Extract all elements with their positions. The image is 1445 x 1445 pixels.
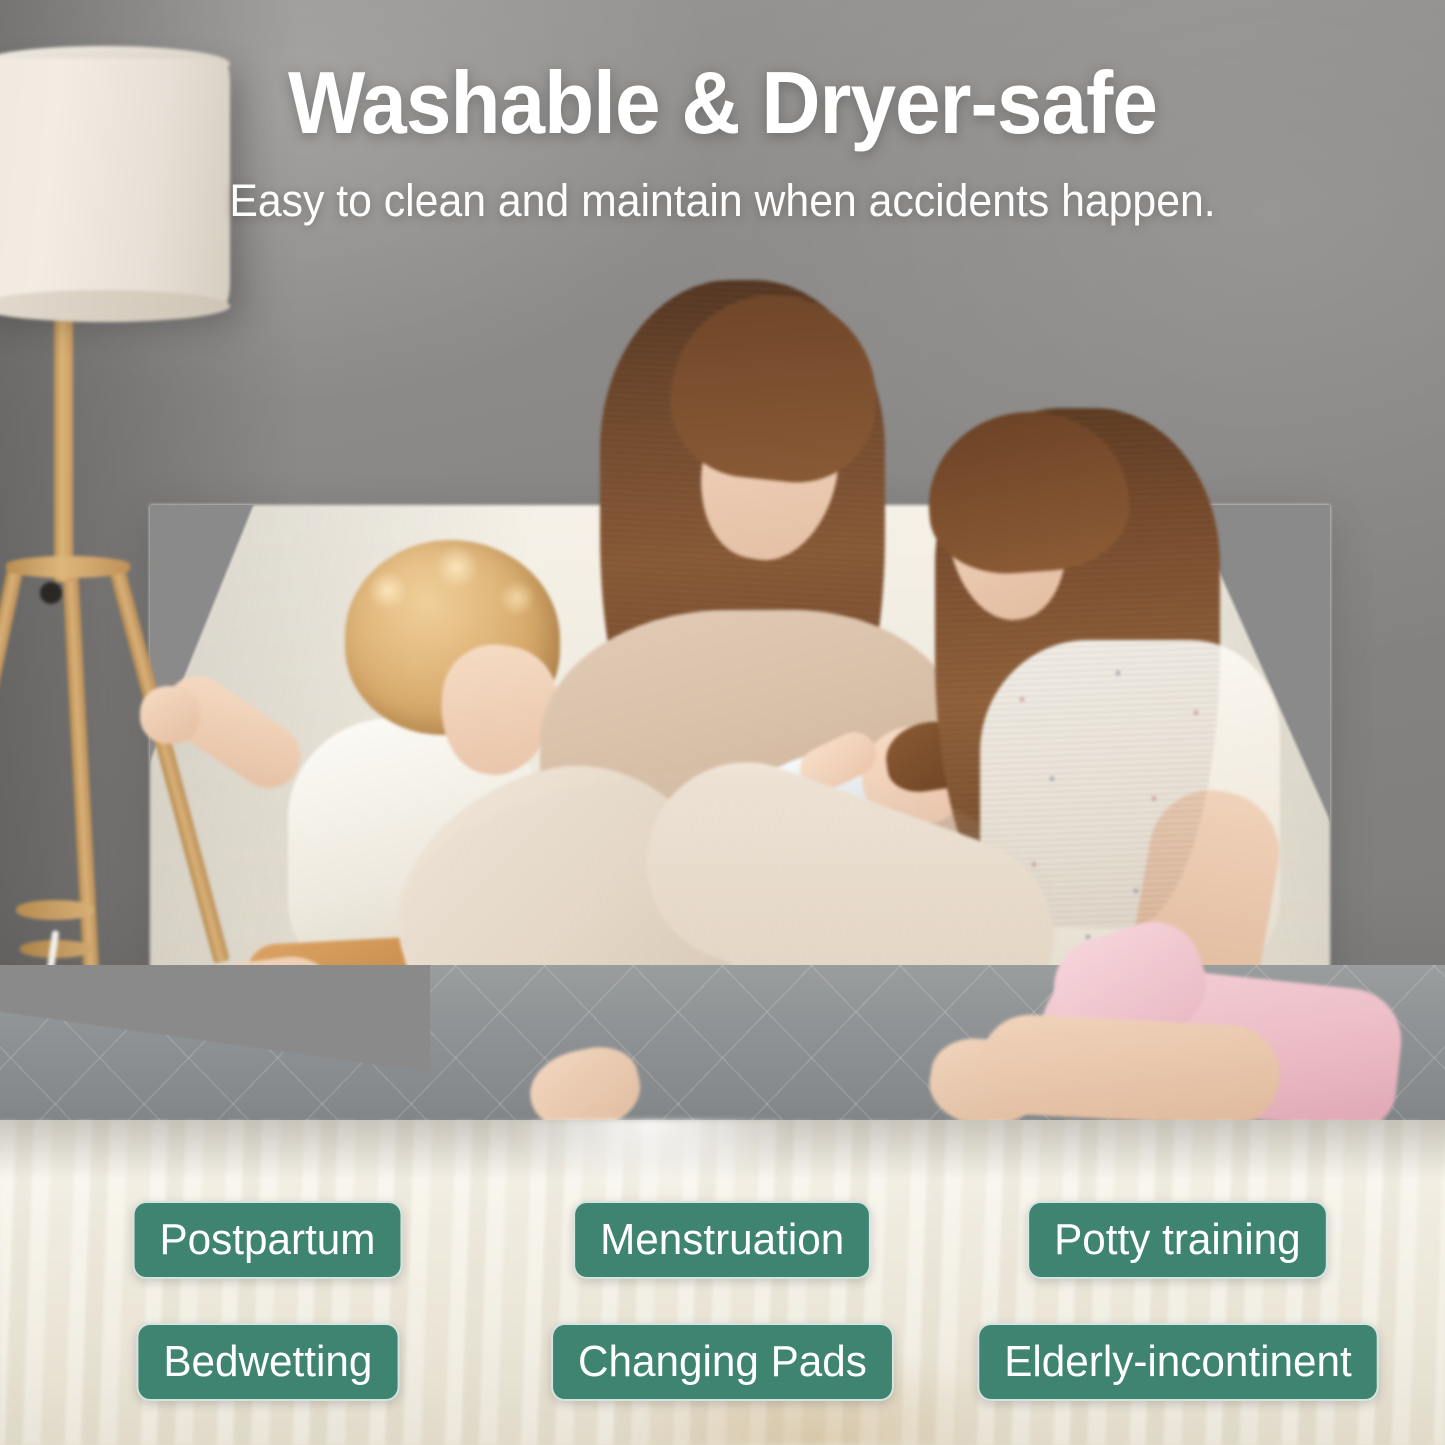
badge-changing-pads[interactable]: Changing Pads xyxy=(551,1323,894,1401)
lamp-stem xyxy=(54,312,73,582)
lamp-collar xyxy=(6,556,130,578)
badge-cell: Elderly-incontinent xyxy=(950,1323,1405,1401)
lamp-leg-center xyxy=(62,566,100,986)
badge-bedwetting[interactable]: Bedwetting xyxy=(136,1323,399,1401)
badge-menstruation[interactable]: Menstruation xyxy=(574,1201,872,1279)
toddler-hand xyxy=(140,686,200,744)
badge-cell: Bedwetting xyxy=(40,1323,495,1401)
use-case-badge-grid: Postpartum Menstruation Potty training B… xyxy=(0,1196,1445,1426)
badge-cell: Menstruation xyxy=(495,1201,950,1279)
page-subtitle: Easy to clean and maintain when accident… xyxy=(36,175,1409,227)
badge-row-1: Postpartum Menstruation Potty training xyxy=(0,1196,1445,1284)
badge-cell: Postpartum xyxy=(40,1201,495,1279)
badge-row-2: Bedwetting Changing Pads Elderly-inconti… xyxy=(0,1318,1445,1406)
pad-left-taper xyxy=(0,965,430,1085)
page-title: Washable & Dryer-safe xyxy=(51,52,1395,154)
badge-cell: Potty training xyxy=(950,1201,1405,1279)
lamp-leg-right xyxy=(108,564,230,964)
badge-elderly-incontinent[interactable]: Elderly-incontinent xyxy=(977,1323,1378,1401)
badge-potty-training[interactable]: Potty training xyxy=(1027,1201,1327,1279)
badge-postpartum[interactable]: Postpartum xyxy=(133,1201,403,1279)
product-lifestyle-image: Washable & Dryer-safe Easy to clean and … xyxy=(0,0,1445,1445)
lamp-leg-left xyxy=(0,564,24,959)
lamp-base-ring-upper xyxy=(16,900,94,920)
lamp-knob xyxy=(40,582,62,604)
girl-shin xyxy=(978,1012,1283,1128)
lamp-shade-bottom-rim xyxy=(0,290,230,322)
badge-cell: Changing Pads xyxy=(495,1323,950,1401)
